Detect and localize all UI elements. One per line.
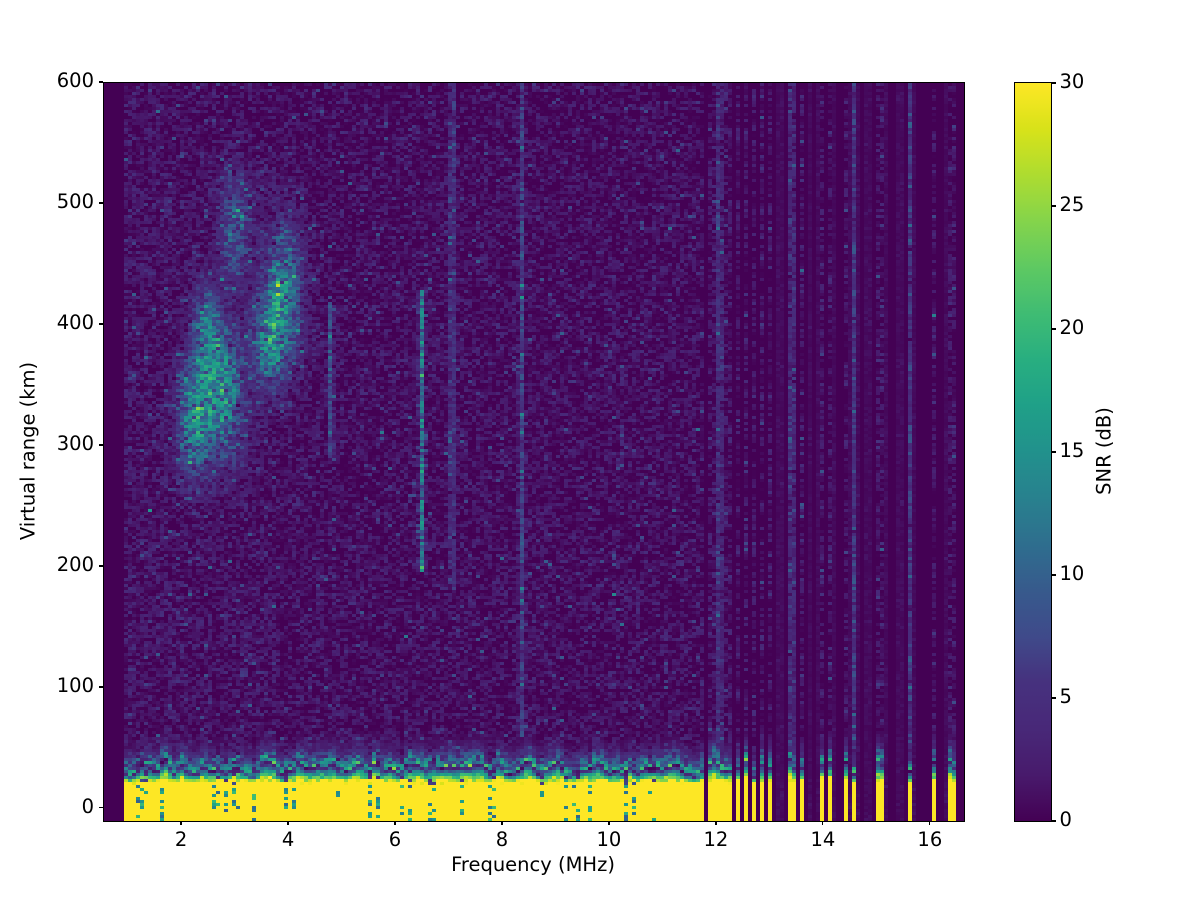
x-tick-label: 4 xyxy=(258,828,318,851)
colorbar-tick-mark xyxy=(1052,328,1056,329)
x-tick-label: 14 xyxy=(793,828,853,851)
colorbar-tick-label: 25 xyxy=(1060,193,1085,216)
y-tick-label: 100 xyxy=(57,674,94,697)
colorbar-tick-label: 0 xyxy=(1060,808,1072,831)
x-tick-mark xyxy=(394,821,395,825)
colorbar-tick-mark xyxy=(1052,574,1056,575)
colorbar-tick-mark xyxy=(1052,697,1056,698)
x-tick-label: 16 xyxy=(900,828,960,851)
y-tick-label: 0 xyxy=(82,795,94,818)
colorbar-tick-mark xyxy=(1052,82,1056,83)
y-tick-label: 600 xyxy=(57,69,94,92)
colorbar-gradient xyxy=(1015,83,1051,821)
ionogram-figure: IRF Kiruna Ionosonde KI167 2025-10-26 02… xyxy=(0,0,1200,900)
colorbar-tick-label: 5 xyxy=(1060,685,1072,708)
y-axis-label: Virtual range (km) xyxy=(17,362,40,540)
y-tick-label: 400 xyxy=(57,311,94,334)
x-axis-label: Frequency (MHz) xyxy=(103,853,963,876)
colorbar-tick-mark xyxy=(1052,451,1056,452)
x-tick-label: 12 xyxy=(686,828,746,851)
y-tick-label: 200 xyxy=(57,553,94,576)
colorbar-tick-label: 30 xyxy=(1060,70,1085,93)
colorbar-tick-mark xyxy=(1052,205,1056,206)
x-tick-mark xyxy=(287,821,288,825)
colorbar-label: SNR (dB) xyxy=(1093,407,1116,495)
colorbar[interactable]: 051015202530 xyxy=(1014,82,1052,822)
colorbar-tick-label: 10 xyxy=(1060,562,1085,585)
ionogram-plot-area[interactable] xyxy=(103,82,965,822)
colorbar-tick-label: 20 xyxy=(1060,316,1085,339)
colorbar-tick-label: 15 xyxy=(1060,439,1085,462)
x-tick-mark xyxy=(822,821,823,825)
x-tick-mark xyxy=(180,821,181,825)
x-tick-label: 10 xyxy=(579,828,639,851)
y-tick-label: 300 xyxy=(57,432,94,455)
y-tick-label: 500 xyxy=(57,190,94,213)
x-tick-label: 6 xyxy=(365,828,425,851)
colorbar-tick-mark xyxy=(1052,820,1056,821)
x-tick-label: 8 xyxy=(472,828,532,851)
x-tick-mark xyxy=(501,821,502,825)
x-tick-label: 2 xyxy=(151,828,211,851)
x-tick-mark xyxy=(608,821,609,825)
x-tick-mark xyxy=(715,821,716,825)
ionogram-heatmap xyxy=(104,83,964,821)
x-tick-mark xyxy=(929,821,930,825)
